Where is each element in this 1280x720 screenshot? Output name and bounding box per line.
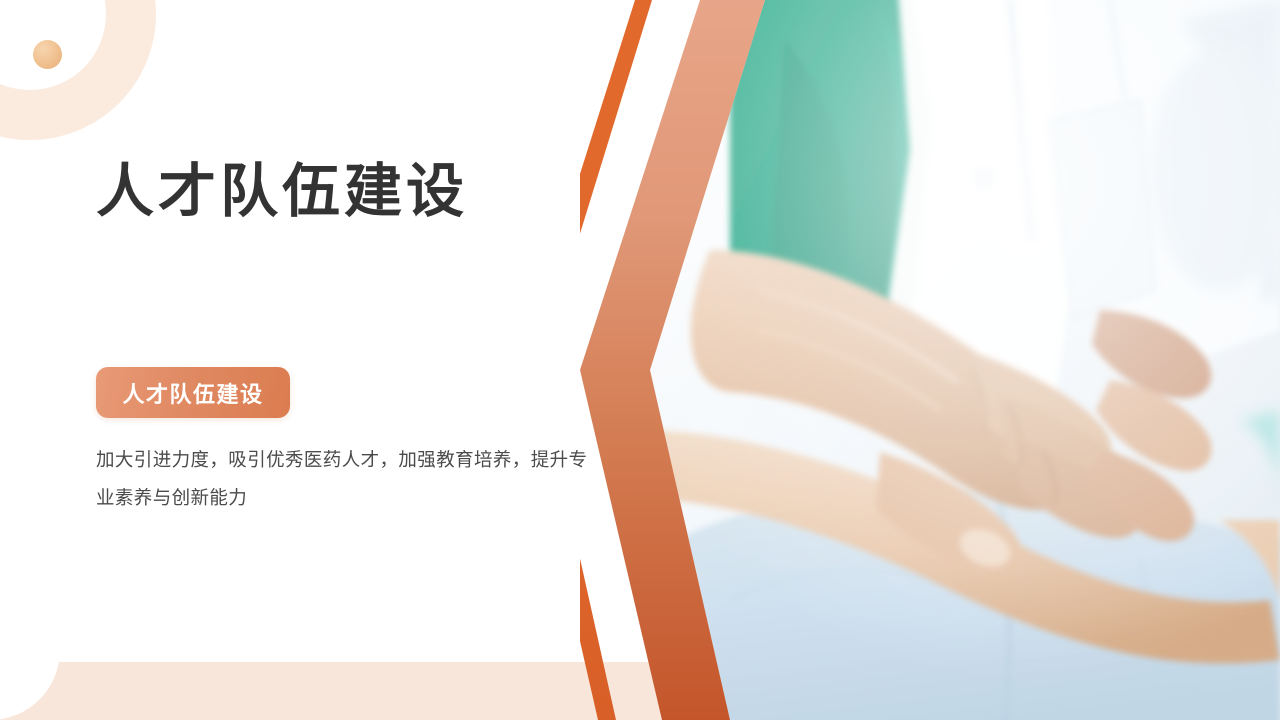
chevron-photo-composition xyxy=(580,0,1280,720)
section-badge-label: 人才队伍建设 xyxy=(122,377,263,409)
slide-canvas: 人才队伍建设 人才队伍建设 加大引进力度，吸引优秀医药人才，加强教育培养，提升专… xyxy=(0,0,1280,720)
body-paragraph: 加大引进力度，吸引优秀医药人才，加强教育培养，提升专业素养与创新能力 xyxy=(96,441,596,517)
section-badge: 人才队伍建设 xyxy=(96,367,290,418)
right-graphic xyxy=(580,0,1280,720)
top-left-ring-hole xyxy=(0,0,106,90)
doctor-patient-photo xyxy=(640,0,1280,720)
top-left-dot-icon xyxy=(33,40,62,69)
text-column: 人才队伍建设 人才队伍建设 加大引进力度，吸引优秀医药人才，加强教育培养，提升专… xyxy=(96,0,616,720)
page-title: 人才队伍建设 xyxy=(96,160,468,224)
bottom-left-notch xyxy=(0,600,60,720)
